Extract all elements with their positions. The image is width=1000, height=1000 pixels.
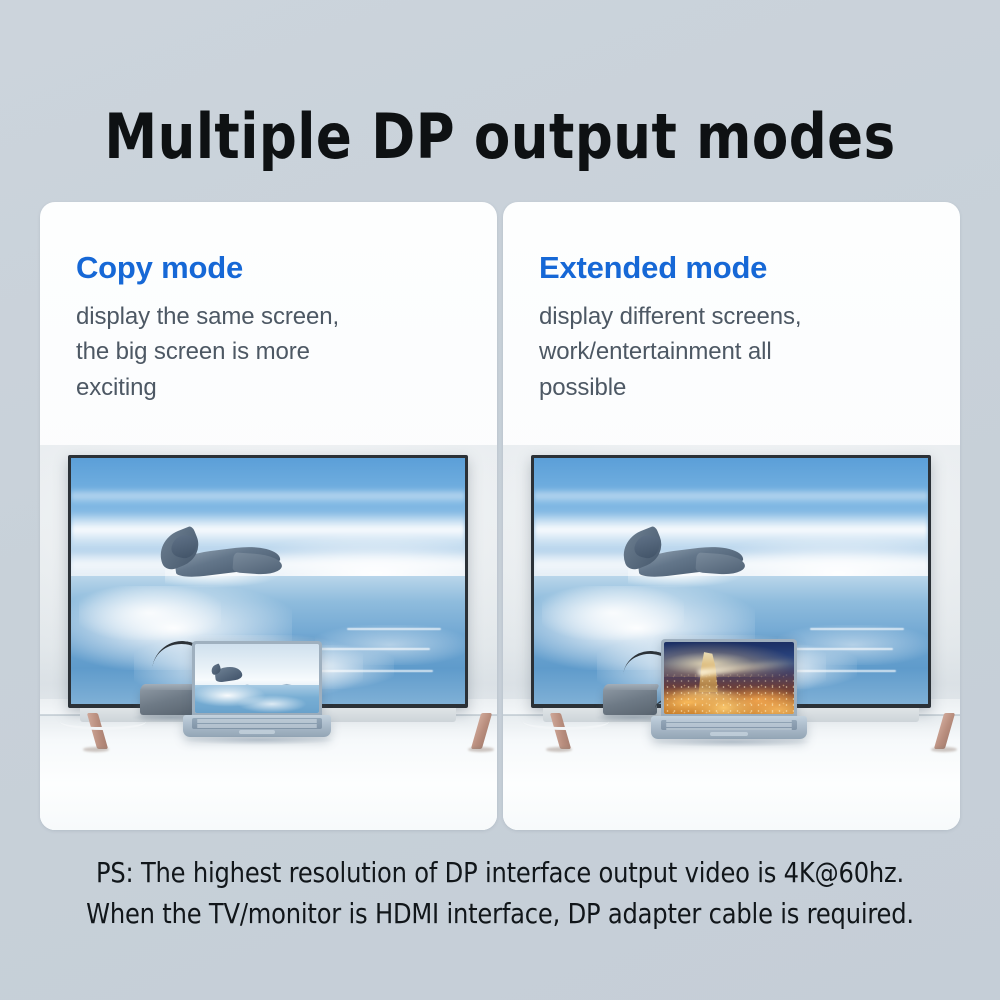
sea-foam bbox=[79, 586, 221, 640]
laptop-keyboard[interactable] bbox=[661, 720, 797, 731]
laptop-lid bbox=[192, 641, 322, 716]
card-extended-mode-header: Extended mode display different screens,… bbox=[539, 252, 942, 405]
laptop-keyboard[interactable] bbox=[192, 718, 322, 728]
laptop-copy-mode bbox=[192, 641, 322, 737]
promo-page: Multiple DP output modes Copy mode displ… bbox=[0, 0, 1000, 1000]
laptop-shadow bbox=[653, 737, 811, 747]
city-light-dots bbox=[664, 642, 794, 714]
sea-foam bbox=[778, 625, 928, 664]
laptop-screen-city bbox=[664, 642, 794, 714]
card-copy-mode-header: Copy mode display the same screen, the b… bbox=[76, 252, 479, 405]
whale bbox=[621, 532, 743, 579]
keyboard-row bbox=[197, 726, 317, 728]
footer-note: PS: The highest resolution of DP interfa… bbox=[68, 852, 932, 935]
laptop-base bbox=[183, 715, 331, 737]
tv-leg-shadow bbox=[468, 747, 494, 752]
keyboard-row bbox=[666, 728, 792, 730]
whale bbox=[158, 532, 280, 579]
wave-line bbox=[315, 670, 433, 672]
wave-line bbox=[347, 628, 442, 630]
mode-cards: Copy mode display the same screen, the b… bbox=[40, 202, 960, 830]
laptop-extended-mode bbox=[661, 639, 797, 739]
card-copy-mode-title: Copy mode bbox=[76, 252, 479, 285]
card-extended-mode-photo bbox=[503, 445, 960, 830]
cloud-band bbox=[71, 488, 465, 505]
keyboard-row bbox=[666, 725, 792, 727]
power-cable bbox=[60, 713, 146, 730]
power-cable bbox=[523, 713, 609, 730]
laptop-shadow bbox=[184, 735, 335, 745]
card-copy-mode[interactable]: Copy mode display the same screen, the b… bbox=[40, 202, 497, 830]
keyboard-rows bbox=[666, 720, 792, 729]
page-title: Multiple DP output modes bbox=[25, 104, 975, 169]
card-copy-mode-description: display the same screen, the big screen … bbox=[76, 299, 479, 406]
keyboard-row bbox=[666, 720, 792, 722]
mini-foam bbox=[237, 695, 306, 713]
tv-leg-shadow bbox=[546, 747, 572, 752]
sea-foam bbox=[542, 586, 684, 640]
laptop-screen-whale bbox=[195, 644, 319, 713]
cloud-band bbox=[534, 488, 928, 505]
laptop-trackpad[interactable] bbox=[710, 732, 747, 736]
laptop-base bbox=[651, 716, 806, 739]
card-extended-mode-description: display different screens, work/entertai… bbox=[539, 299, 942, 406]
laptop-lid bbox=[661, 639, 797, 717]
card-copy-mode-photo bbox=[40, 445, 497, 830]
wave-line bbox=[810, 628, 905, 630]
keyboard-rows bbox=[197, 719, 317, 728]
sea-foam bbox=[315, 625, 465, 664]
laptop-trackpad[interactable] bbox=[239, 730, 275, 734]
tv-leg-shadow bbox=[931, 747, 957, 752]
card-extended-mode-title: Extended mode bbox=[539, 252, 942, 285]
tv-leg-shadow bbox=[83, 747, 109, 752]
card-extended-mode[interactable]: Extended mode display different screens,… bbox=[503, 202, 960, 830]
